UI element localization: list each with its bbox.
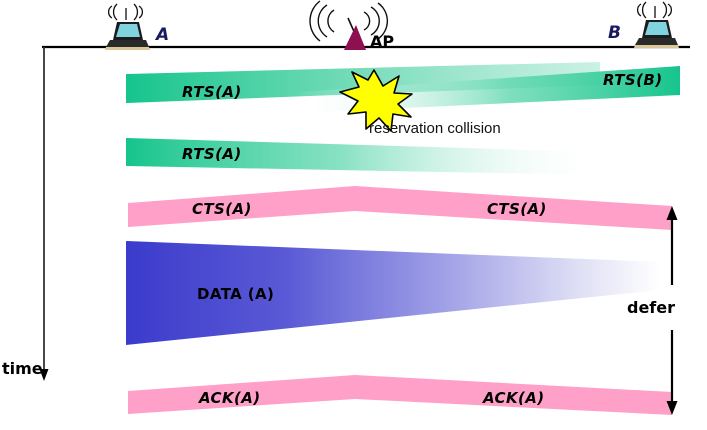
message-label-cts-a-left: CTS(A) [192,200,252,218]
defer-label: defer [627,298,675,317]
message-label-ack-a-right: ACK(A) [482,389,545,407]
message-label-ack-a-left: ACK(A) [198,389,261,407]
node-a-label: A [154,25,169,45]
time-axis-label: time [2,359,43,378]
wireless-waves-icon [638,2,672,18]
message-label-rts-b: RTS(B) [603,71,662,89]
node-ap-label: AP [370,32,394,51]
message-label-rts-a-1: RTS(A) [182,83,242,101]
node-b-label: B [608,23,621,43]
node-a-icon [105,4,150,50]
message-label-data-a: DATA (A) [197,285,274,303]
wireless-waves-icon [109,4,143,20]
message-label-cts-a-right: CTS(A) [487,200,547,218]
message-label-rts-a-2: RTS(A) [182,145,242,163]
collision-annotation-label: reservation collision [369,120,501,137]
node-b-icon [634,2,679,48]
wireless-timing-diagram: A AP B RTS(A) RTS(B) RTS(A) CTS(A) [0,0,707,430]
diagram-canvas: A AP B RTS(A) RTS(B) RTS(A) CTS(A) [0,0,707,430]
